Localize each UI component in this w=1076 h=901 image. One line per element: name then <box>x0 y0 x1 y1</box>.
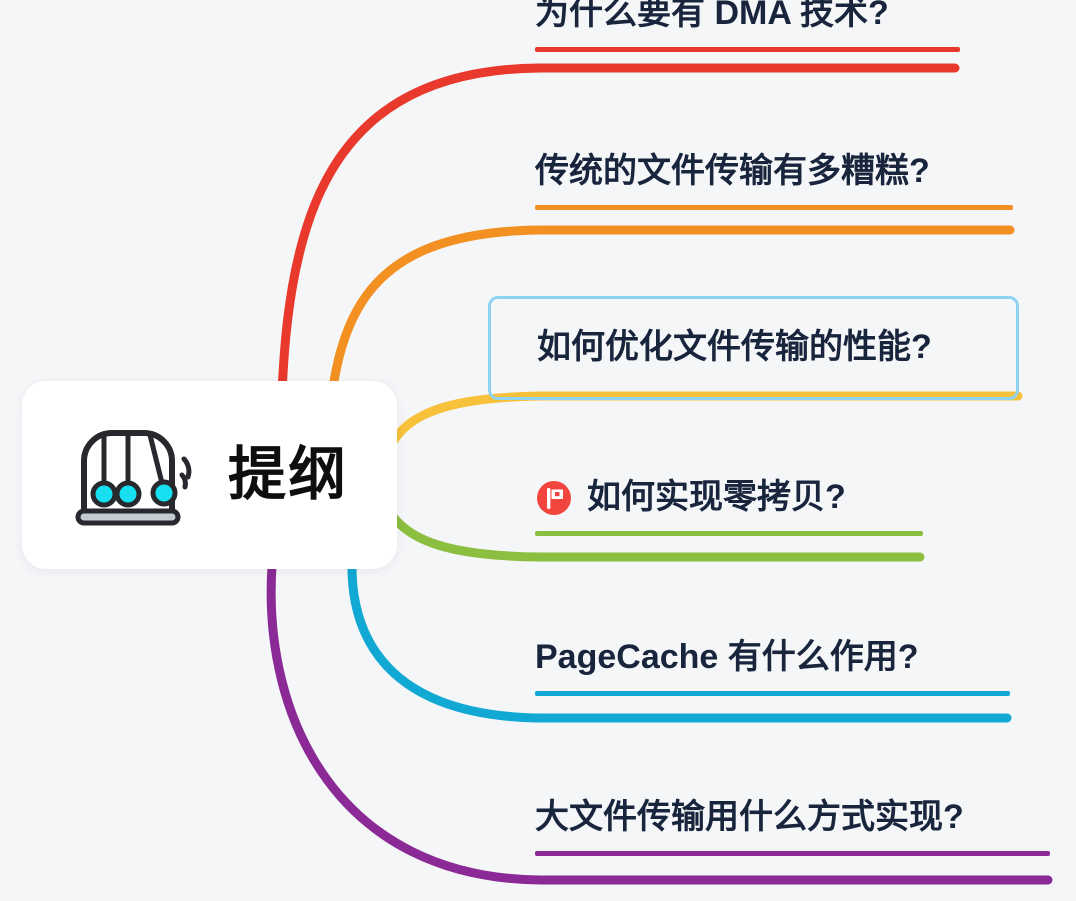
branch-underline-5 <box>535 851 1050 856</box>
branch-topic-5[interactable]: 大文件传输用什么方式实现? <box>535 798 1050 856</box>
branch-topic-1[interactable]: 传统的文件传输有多糟糕? <box>535 152 1013 210</box>
flag-badge-icon <box>535 479 573 517</box>
branch-label-5: 大文件传输用什么方式实现? <box>535 798 1050 837</box>
branch-label-4: PageCache 有什么作用? <box>535 638 1010 677</box>
branch-topic-2-selected[interactable]: 如何优化文件传输的性能? <box>488 296 1019 400</box>
branch-topic-4[interactable]: PageCache 有什么作用? <box>535 638 1010 696</box>
branch-topic-0[interactable]: 为什么要有 DMA 技术? <box>535 0 960 52</box>
branch-label-2: 如何优化文件传输的性能? <box>537 328 932 367</box>
central-node[interactable]: 提纲 <box>22 381 397 569</box>
branch-connector-2 <box>383 396 1018 470</box>
branch-underline-3 <box>535 531 923 536</box>
branch-underline-1 <box>535 205 1013 210</box>
mindmap-canvas: 提纲 为什么要有 DMA 技术? 传统的文件传输有多糟糕? 如何优化文件传输的性… <box>0 0 1076 901</box>
newtons-cradle-icon <box>70 421 202 529</box>
branch-underline-0 <box>535 47 960 52</box>
branch-label-0: 为什么要有 DMA 技术? <box>535 0 960 33</box>
branch-label-1: 传统的文件传输有多糟糕? <box>535 152 1013 191</box>
branch-underline-4 <box>535 691 1010 696</box>
branch-topic-3[interactable]: 如何实现零拷贝? <box>535 478 923 536</box>
branch-label-3: 如何实现零拷贝? <box>587 478 846 517</box>
branch-label-3-row: 如何实现零拷贝? <box>535 478 923 517</box>
central-node-label: 提纲 <box>228 446 348 504</box>
